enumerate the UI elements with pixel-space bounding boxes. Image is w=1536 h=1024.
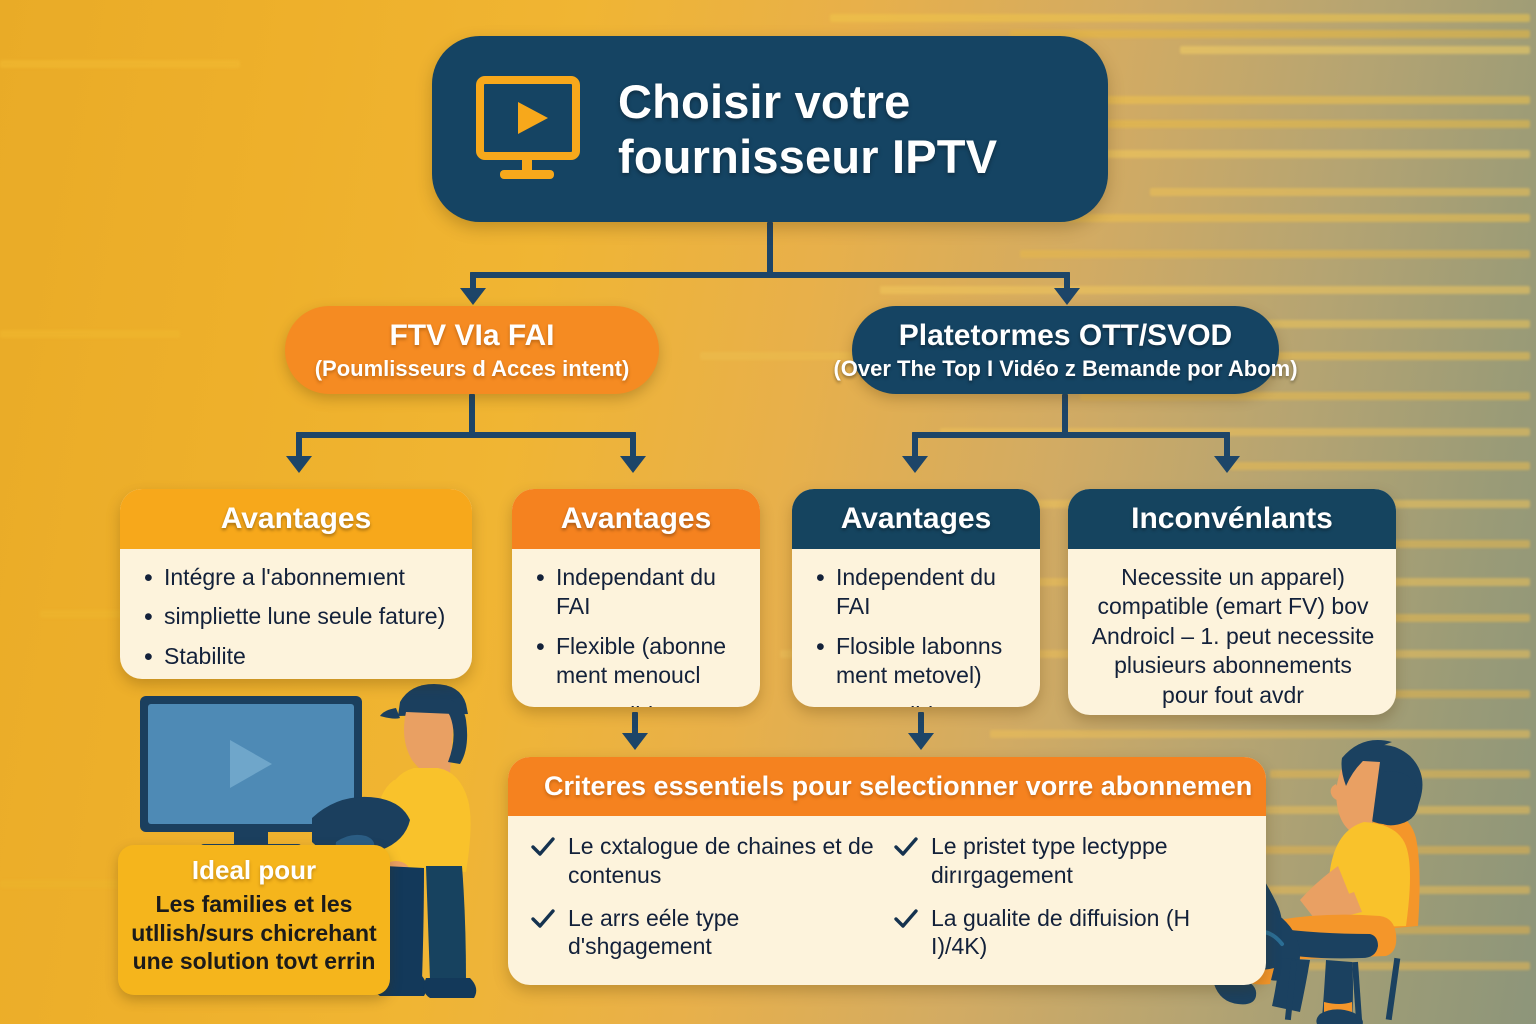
card-inconvenients-ott: Inconvénlants Necessite un apparel) comp… [1068,489,1396,715]
list-item: Flosible labonns ment metovel) [836,632,1022,691]
page-title: Choisir votre fournisseur IPTV [618,74,997,185]
criteria-right-text-1: Le pristet type lectyppe dirırgagement [931,832,1244,890]
criteria-left-text-1: Le cxtalogue de chaines et de contenus [568,832,881,890]
criteria-right-column: Le pristet type lectyppe dirırgagement L… [893,832,1256,975]
ideal-pour-box: Ideal pour Les families et les utllish/s… [118,845,390,995]
card-4-paragraph: Necessite un apparel) compatible (emart … [1088,563,1378,710]
card-3-body: Independent du FAI Flosible labonns ment… [792,549,1040,707]
card-2-body: Independant du FAI Flexible (abonne ment… [512,549,760,707]
title-banner: Choisir votre fournisseur IPTV [432,36,1108,222]
card-4-body: Necessite un apparel) compatible (emart … [1068,549,1396,715]
list-item: Intégre a l'abonnemıent [164,563,454,592]
ideal-pour-text: Les families et les utllish/surs chicreh… [130,890,378,976]
list-item: simpliette lune seule fature) [164,602,454,631]
arrow-card3-to-criteria [908,733,934,750]
arrow-to-card-3 [902,456,928,473]
ideal-pour-title: Ideal pour [130,855,378,886]
infographic-canvas: Choisir votre fournisseur IPTV FTV VIa F… [0,0,1536,1024]
card-2-heading: Avantages [512,489,760,549]
arrow-card2-to-criteria [622,733,648,750]
tv-play-icon [474,74,592,184]
branch-left-title: FTV VIa FAI [389,319,554,352]
connector-left-branch-stem [469,394,475,436]
arrow-to-card-4 [1214,456,1240,473]
title-line-2: fournisseur IPTV [618,129,997,184]
list-item: Accessible partout [836,701,1022,707]
check-icon [530,834,556,860]
connector-title-stem [767,222,773,276]
check-icon [893,834,919,860]
branch-node-plateformes-ott-svod[interactable]: Platetormes OTT/SVOD (Over The Top I Vid… [852,306,1279,394]
card-4-heading: Inconvénlants [1068,489,1396,549]
arrow-to-card-1 [286,456,312,473]
connector-left-branch-bus [296,432,636,438]
connector-level1-bus [470,272,1070,278]
list-item: Le arrs eéle type d'shgagement [530,904,881,962]
arrow-to-branch-right [1054,288,1080,305]
arrow-to-card-2 [620,456,646,473]
list-item: Independant du FAI [556,563,742,622]
title-line-1: Choisir votre [618,74,997,129]
criteria-left-column: Le cxtalogue de chaines et de contenus L… [530,832,893,975]
check-icon [530,906,556,932]
criteria-body: Le cxtalogue de chaines et de contenus L… [508,816,1266,985]
connector-right-branch-stem [1062,394,1068,436]
criteria-left-text-2: Le arrs eéle type d'shgagement [568,904,881,962]
branch-node-iptv-via-fai[interactable]: FTV VIa FAI (Poumlisseurs d Acces intent… [285,306,659,394]
card-avantages-ott: Avantages Independent du FAI Flosible la… [792,489,1040,707]
list-item: Independent du FAI [836,563,1022,622]
branch-left-subtitle: (Poumlisseurs d Acces intent) [315,356,630,381]
list-item: Le pristet type lectyppe dirırgagement [893,832,1244,890]
branch-right-subtitle: (Over The Top I Vidéo z Bemande por Abom… [833,356,1297,381]
card-avantages-fai-2: Avantages Independant du FAI Flexible (a… [512,489,760,707]
card-3-heading: Avantages [792,489,1040,549]
criteria-panel: Criteres essentiels pour selectionner vo… [508,757,1266,985]
connector-right-branch-bus [912,432,1230,438]
check-icon [893,906,919,932]
branch-right-title: Platetormes OTT/SVOD [899,319,1232,352]
list-item: La gualite de diffuision (H I)/4K) [893,904,1244,962]
card-avantages-fai: Avantages Intégre a l'abonnemıent simpli… [120,489,472,679]
list-item: Flexible (abonne ment menoucl [556,632,742,691]
list-item: Le cxtalogue de chaines et de contenus [530,832,881,890]
list-item: Accessible parout [556,701,742,707]
card-1-heading: Avantages [120,489,472,549]
arrow-to-branch-left [460,288,486,305]
card-1-body: Intégre a l'abonnemıent simpliette lune … [120,549,472,679]
criteria-heading: Criteres essentiels pour selectionner vo… [508,757,1266,816]
criteria-right-text-2: La gualite de diffuision (H I)/4K) [931,904,1244,962]
list-item: Stabilite [164,642,454,671]
